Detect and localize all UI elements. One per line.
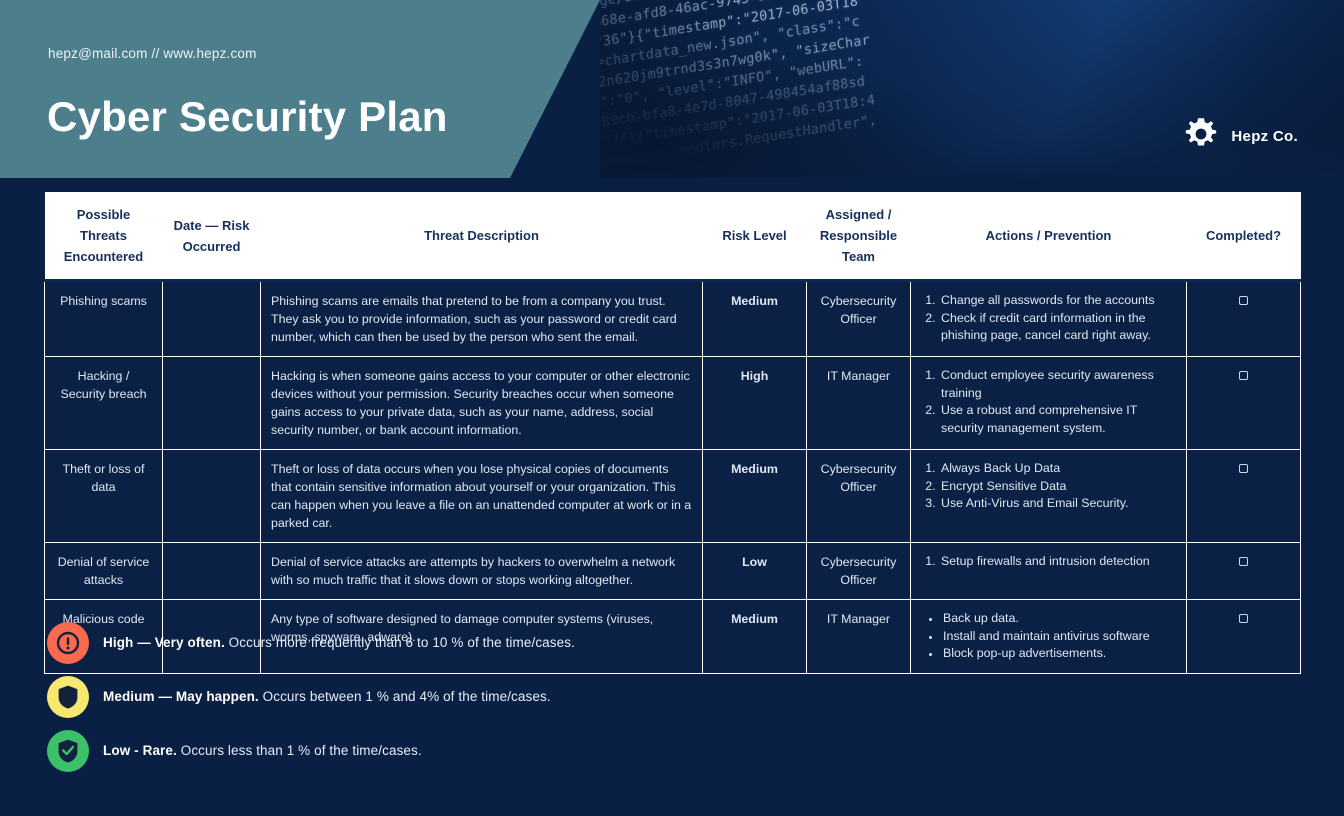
completed-checkbox[interactable] (1239, 371, 1248, 380)
cell-date-occurred[interactable] (163, 450, 261, 543)
legend-row: High — Very often. Occurs more frequentl… (47, 616, 1247, 669)
table-body: Phishing scamsPhishing scams are emails … (45, 281, 1301, 674)
action-item: Use a robust and comprehensive IT securi… (939, 402, 1176, 437)
completed-checkbox[interactable] (1239, 557, 1248, 566)
cyber-security-plan-page: ass":"com.orgmanager.handlers.RequestHan… (0, 0, 1344, 816)
shield-icon (47, 676, 89, 718)
brand-logo: Hepz Co. (1182, 115, 1298, 158)
cell-date-occurred[interactable] (163, 357, 261, 450)
cell-assigned-team: IT Manager (807, 357, 911, 450)
cell-assigned-team: Cybersecurity Officer (807, 281, 911, 357)
cell-actions-prevention: Change all passwords for the accountsChe… (911, 281, 1187, 357)
legend-text: High — Very often. Occurs more frequentl… (103, 635, 575, 650)
table-row: Denial of service attacksDenial of servi… (45, 543, 1301, 600)
legend-description: Occurs between 1 % and 4% of the time/ca… (259, 689, 551, 704)
actions-list: Setup firewalls and intrusion detection (921, 553, 1176, 571)
column-header-possible-threats: Possible Threats Encountered (45, 192, 163, 281)
cell-risk-level: Medium (703, 450, 807, 543)
risk-table-container: Possible Threats Encountered Date — Risk… (44, 192, 1300, 674)
legend-label: High — Very often. (103, 635, 225, 650)
cell-date-occurred[interactable] (163, 281, 261, 357)
cell-date-occurred[interactable] (163, 543, 261, 600)
legend-row: Low - Rare. Occurs less than 1 % of the … (47, 724, 1247, 777)
page-title: Cyber Security Plan (47, 93, 448, 141)
legend-description: Occurs more frequently than 6 to 10 % of… (225, 635, 575, 650)
action-item: Setup firewalls and intrusion detection (939, 553, 1176, 571)
header-angled-panel (0, 0, 700, 178)
exclamation-circle-icon (47, 622, 89, 664)
action-item: Use Anti-Virus and Email Security. (939, 495, 1176, 513)
actions-list: Change all passwords for the accountsChe… (921, 292, 1176, 345)
cell-completed[interactable] (1187, 543, 1301, 600)
action-item: Check if credit card information in the … (939, 310, 1176, 345)
cell-completed[interactable] (1187, 357, 1301, 450)
shield-check-icon (47, 730, 89, 772)
table-row: Phishing scamsPhishing scams are emails … (45, 281, 1301, 357)
column-header-risk-level: Risk Level (703, 192, 807, 281)
cell-possible-threat: Hacking / Security breach (45, 357, 163, 450)
action-item: Encrypt Sensitive Data (939, 478, 1176, 496)
table-row: Theft or loss of dataTheft or loss of da… (45, 450, 1301, 543)
cell-risk-level: High (703, 357, 807, 450)
cell-risk-level: Low (703, 543, 807, 600)
cell-assigned-team: Cybersecurity Officer (807, 543, 911, 600)
brand-name: Hepz Co. (1231, 128, 1298, 145)
legend-text: Medium — May happen. Occurs between 1 % … (103, 689, 551, 704)
column-header-assigned-team: Assigned / Responsible Team (807, 192, 911, 281)
cell-actions-prevention: Setup firewalls and intrusion detection (911, 543, 1187, 600)
gear-icon (1182, 115, 1220, 158)
cell-completed[interactable] (1187, 281, 1301, 357)
risk-table: Possible Threats Encountered Date — Risk… (44, 192, 1301, 674)
completed-checkbox[interactable] (1239, 296, 1248, 305)
cell-threat-description: Theft or loss of data occurs when you lo… (261, 450, 703, 543)
cell-possible-threat: Denial of service attacks (45, 543, 163, 600)
column-header-date-risk-occurred: Date — Risk Occurred (163, 192, 261, 281)
legend-label: Low - Rare. (103, 743, 177, 758)
page-header: ass":"com.orgmanager.handlers.RequestHan… (0, 0, 1344, 178)
legend-label: Medium — May happen. (103, 689, 259, 704)
column-header-completed: Completed? (1187, 192, 1301, 281)
legend-text: Low - Rare. Occurs less than 1 % of the … (103, 743, 422, 758)
column-header-threat-description: Threat Description (261, 192, 703, 281)
actions-list: Always Back Up DataEncrypt Sensitive Dat… (921, 460, 1176, 513)
cell-threat-description: Phishing scams are emails that pretend t… (261, 281, 703, 357)
cell-risk-level: Medium (703, 281, 807, 357)
legend-description: Occurs less than 1 % of the time/cases. (177, 743, 422, 758)
cell-possible-threat: Theft or loss of data (45, 450, 163, 543)
column-header-actions-prevention: Actions / Prevention (911, 192, 1187, 281)
completed-checkbox[interactable] (1239, 464, 1248, 473)
cell-possible-threat: Phishing scams (45, 281, 163, 357)
cell-actions-prevention: Always Back Up DataEncrypt Sensitive Dat… (911, 450, 1187, 543)
table-row: Hacking / Security breachHacking is when… (45, 357, 1301, 450)
action-item: Always Back Up Data (939, 460, 1176, 478)
cell-threat-description: Hacking is when someone gains access to … (261, 357, 703, 450)
contact-info: hepz@mail.com // www.hepz.com (48, 46, 257, 61)
cell-assigned-team: Cybersecurity Officer (807, 450, 911, 543)
legend-row: Medium — May happen. Occurs between 1 % … (47, 670, 1247, 723)
risk-legend: High — Very often. Occurs more frequentl… (47, 616, 1247, 778)
action-item: Conduct employee security awareness trai… (939, 367, 1176, 402)
cell-threat-description: Denial of service attacks are attempts b… (261, 543, 703, 600)
cell-actions-prevention: Conduct employee security awareness trai… (911, 357, 1187, 450)
action-item: Change all passwords for the accounts (939, 292, 1176, 310)
actions-list: Conduct employee security awareness trai… (921, 367, 1176, 437)
cell-completed[interactable] (1187, 450, 1301, 543)
table-header-row: Possible Threats Encountered Date — Risk… (45, 192, 1301, 281)
